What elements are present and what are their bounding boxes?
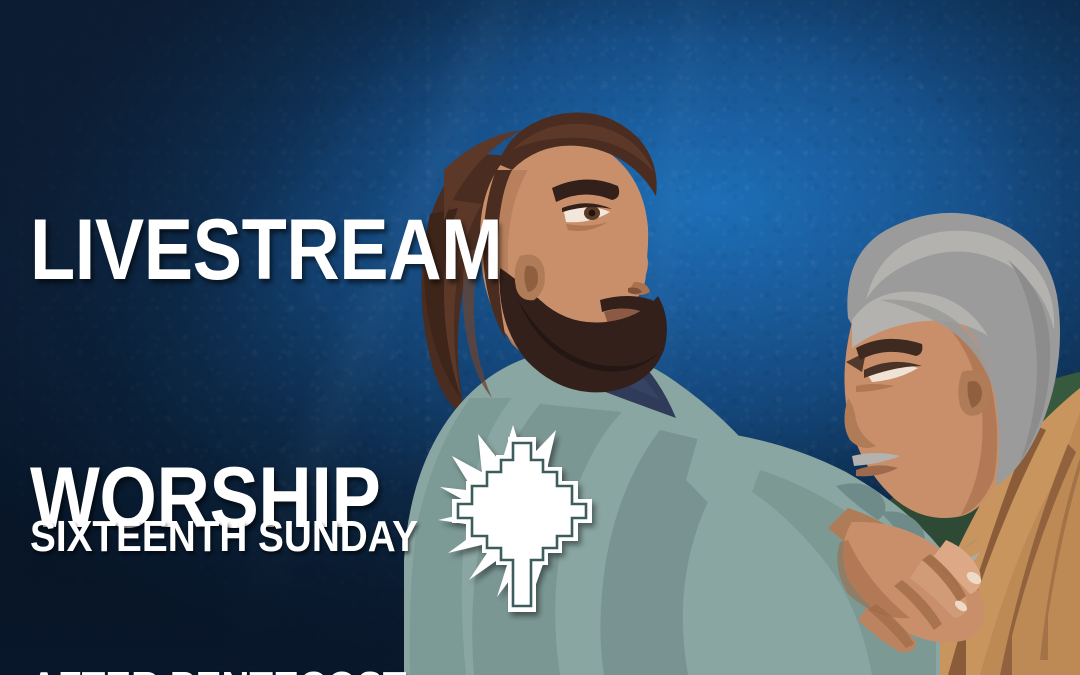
headline-line-1: LIVESTREAM <box>30 209 502 292</box>
worship-announcement-graphic: LIVESTREAM WORSHIP SIXTEENTH SUNDAY AFTE… <box>0 0 1080 675</box>
subheading-line-2: AFTER PENTECOST <box>30 663 418 675</box>
subheading: SIXTEENTH SUNDAY AFTER PENTECOST SEPTEMB… <box>30 412 418 675</box>
subheading-line-1: SIXTEENTH SUNDAY <box>30 512 418 562</box>
